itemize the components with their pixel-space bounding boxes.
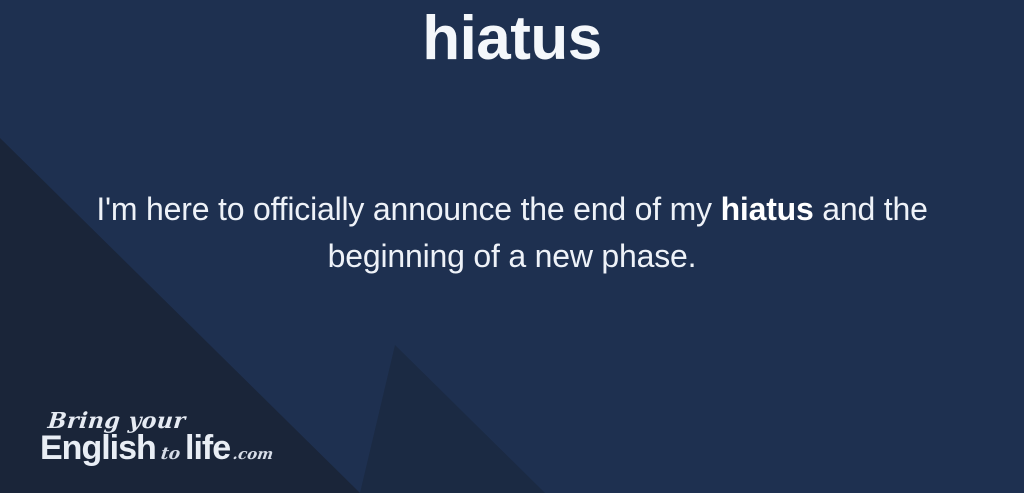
diagonal-wedge [360, 345, 545, 493]
logo-word-english: English [40, 429, 156, 467]
brand-logo: Bring your English to life .com [40, 403, 340, 481]
logo-wordmark: English to life .com [40, 429, 273, 467]
vocabulary-slide: hiatus I'm here to officially announce t… [0, 0, 1024, 493]
logo-word-life: life [185, 429, 230, 467]
page-title: hiatus [0, 0, 1024, 78]
sentence-highlight-word: hiatus [721, 191, 814, 227]
logo-tld-dotcom: .com [229, 445, 275, 463]
sentence-text-before: I'm here to officially announce the end … [96, 191, 720, 227]
logo-connector-to: to [154, 444, 186, 464]
example-sentence: I'm here to officially announce the end … [52, 186, 972, 280]
